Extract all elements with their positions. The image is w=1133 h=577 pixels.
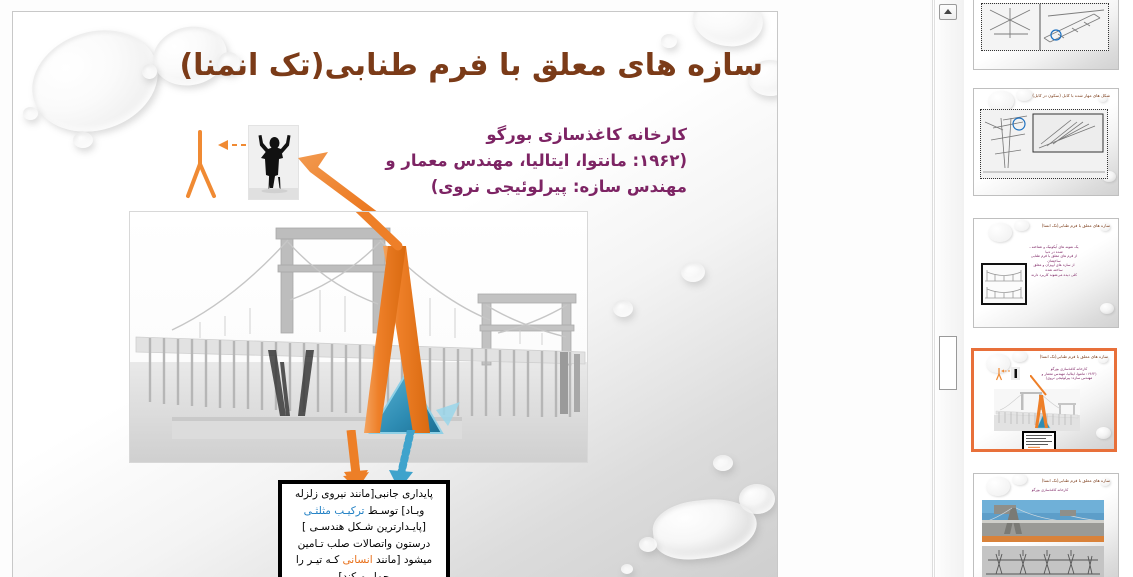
droplet-decoration [1012, 474, 1027, 485]
caption-highlight-orange: انسانی [343, 554, 373, 566]
slide-title[interactable]: سازه های معلق با فرم طنابی(تک انمنا) [163, 46, 763, 86]
slide-edit-area[interactable]: سازه های معلق با فرم طنابی(تک انمنا) کار… [0, 0, 930, 577]
current-slide-canvas[interactable]: سازه های معلق با فرم طنابی(تک انمنا) کار… [12, 11, 778, 577]
thumbnail-picture [982, 500, 1104, 542]
slide-thumbnail-selected[interactable]: سازه های معلق با فرم طنابی(تک انمنا) کار… [971, 348, 1117, 452]
thumbnail-title-text: سازه های معلق با فرم طنابی(تک انمنا) [1040, 354, 1108, 359]
droplet-decoration [23, 107, 38, 120]
caption-text-plain: [پایـدارترین شـکل هندسـی ] [302, 521, 426, 533]
caption-text-plain: درستون واتصالات صلب تـامین [298, 538, 431, 550]
caption-textbox[interactable]: پایداری جانبی[مانند نیروی ز‌لز‌له وبـاد]… [278, 480, 450, 577]
credit-line-1: کارخانه کاغذسازی بورگو [287, 122, 687, 148]
slide-thumbnail-pane[interactable]: شکل های مهار شده با کابل (سکون در کابل) [964, 0, 1133, 577]
droplet-decoration [621, 564, 633, 574]
burgo-paper-mill-bridge-photo[interactable] [129, 211, 588, 463]
thumbnail-picture [980, 109, 1108, 179]
droplet-decoration [739, 484, 775, 514]
droplet-decoration [650, 495, 759, 564]
droplet-decoration [1016, 89, 1032, 101]
droplet-decoration [986, 477, 1010, 496]
droplet-decoration [988, 223, 1012, 242]
caption-line-6: حمل میکند] [285, 569, 443, 577]
thumbnail-picture [982, 546, 1104, 577]
droplet-decoration [142, 64, 157, 79]
thumbnail-title-text: سازه های معلق با فرم طنابی(تک انمنا) [1042, 223, 1110, 228]
slide-pane-scrollbar[interactable] [932, 0, 964, 577]
droplet-decoration [988, 91, 1014, 111]
droplet-decoration [1014, 220, 1029, 231]
thumbnail-title-text: سازه های معلق با فرم طنابی(تک انمنا) [1042, 478, 1110, 483]
scrollbar-track [934, 0, 935, 577]
droplet-decoration [639, 537, 657, 552]
presentation-window: سازه های معلق با فرم طنابی(تک انمنا) کار… [0, 0, 1133, 577]
slide-thumbnail[interactable] [973, 0, 1119, 70]
caption-line-2: وبـاد] توسـط ترکیـب مثلثـی [285, 503, 443, 520]
caption-line-1: پایداری جانبی[مانند نیروی ز‌لز‌له [285, 486, 443, 503]
droplet-decoration [73, 132, 93, 148]
caption-text-plain: حمل میکند] [338, 571, 389, 577]
droplet-decoration [19, 15, 171, 148]
slide-thumbnail[interactable]: سازه های معلق با فرم طنابی(تک انمنا) یک … [973, 218, 1119, 328]
slide-thumbnail[interactable]: سازه های معلق با فرم طنابی(تک انمنا) کار… [973, 473, 1119, 577]
thumbnail-picture [981, 3, 1109, 51]
droplet-decoration [1012, 351, 1027, 362]
thumbnail-caption-box [1022, 431, 1056, 451]
droplet-decoration [1096, 427, 1111, 439]
droplet-decoration [613, 300, 633, 317]
caption-text-plain: پایداری جانبی[مانند نیروی ز‌لز‌له [295, 488, 433, 500]
caption-line-3: [پایـدارترین شـکل هندسـی ] [285, 519, 443, 536]
droplet-decoration [1100, 303, 1114, 314]
caption-text-plain: وبـاد] توسـط [368, 505, 425, 517]
thumbnail-callout-line [1030, 375, 1050, 397]
scrollbar-thumb[interactable] [939, 336, 957, 390]
thumbnail-title-text: شکل های مهار شده با کابل (سکون در کابل) [1032, 93, 1110, 98]
caption-line-5: میشود [مانند انسانی کـه تیـر را [285, 552, 443, 569]
thumbnail-picture [981, 263, 1027, 305]
scroll-up-arrow-icon[interactable] [939, 4, 957, 20]
caption-highlight-blue: ترکیـب مثلثـی [304, 505, 365, 517]
thumbnail-body-text: کارخانه کاغذسازی بورگو [1018, 488, 1082, 493]
droplet-decoration [713, 455, 733, 471]
human-silhouette-photo[interactable] [248, 125, 299, 200]
thumbnail-figure-icons [996, 367, 1022, 381]
caption-text-plain: میشود [مانند [376, 554, 432, 566]
droplet-decoration [681, 262, 705, 282]
caption-text-plain: کـه تیـر را [296, 554, 339, 566]
caption-line-4: درستون واتصالات صلب تـامین [285, 536, 443, 553]
slide-thumbnail[interactable]: شکل های مهار شده با کابل (سکون در کابل) [973, 88, 1119, 196]
